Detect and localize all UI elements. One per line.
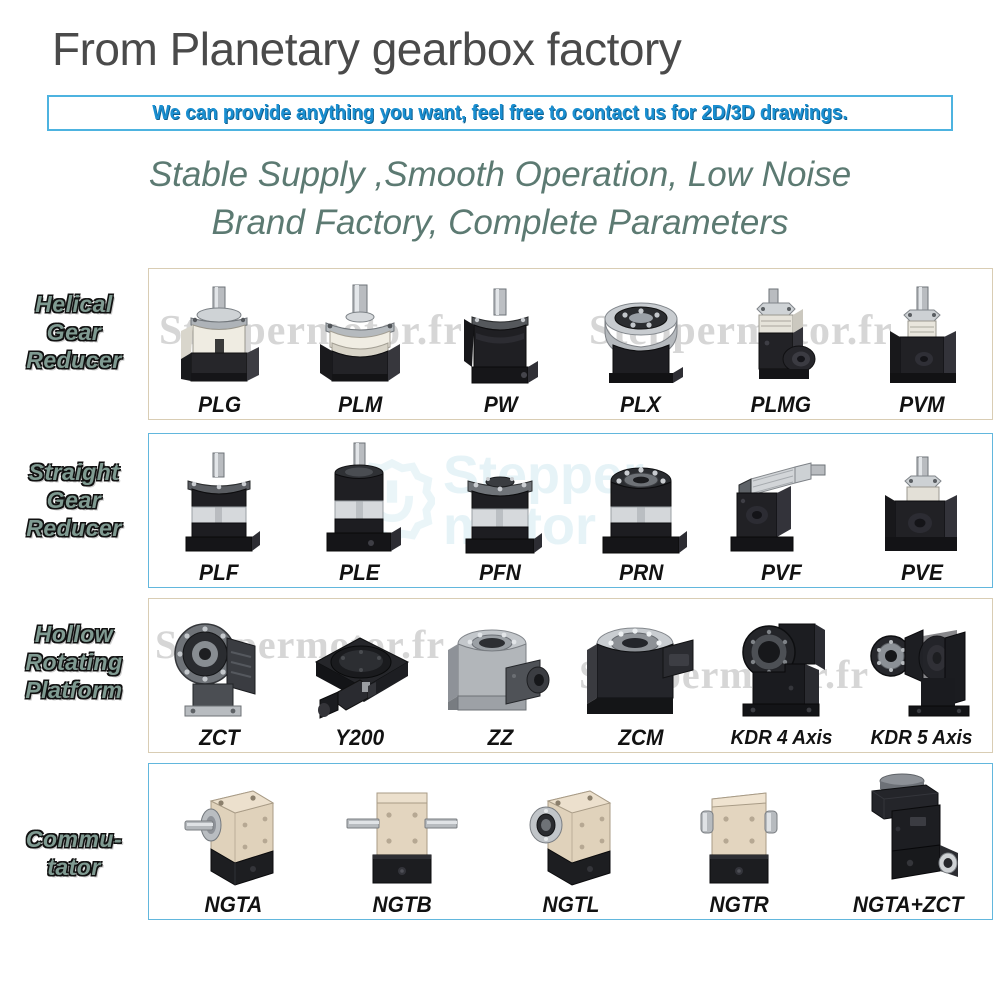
row-label-commutator: Commu- tator xyxy=(4,825,144,881)
product-cell-ngtl[interactable]: NGTL xyxy=(486,764,655,919)
product-box-commutator: NGTA xyxy=(148,763,993,920)
product-image-kdr-4-axis xyxy=(711,599,852,726)
product-caption: PVF xyxy=(761,561,802,585)
product-caption: PW xyxy=(483,393,517,417)
product-caption: PLMG xyxy=(751,393,811,417)
product-cell-pfn[interactable]: PFN xyxy=(430,434,571,587)
row-label-line: Rotating xyxy=(4,648,144,676)
product-image-ngta xyxy=(149,764,318,893)
product-image-prn xyxy=(571,434,712,561)
product-image-plm xyxy=(290,269,431,393)
product-caption: NGTL xyxy=(542,893,599,917)
product-cell-pve[interactable]: PVE xyxy=(852,434,993,587)
product-cell-zz[interactable]: ZZ xyxy=(430,599,571,752)
product-cell-plm[interactable]: PLM xyxy=(290,269,431,419)
product-cells: NGTA xyxy=(149,764,992,919)
row-label-line: Gear xyxy=(4,486,144,514)
product-cells: PLG xyxy=(149,269,992,419)
product-caption: PLF xyxy=(200,561,239,585)
product-cell-kdr-4-axis[interactable]: KDR 4 Axis xyxy=(711,599,852,752)
row-label-line: tator xyxy=(4,853,144,881)
product-image-kdr-5-axis xyxy=(852,599,993,726)
product-caption: ZCT xyxy=(199,726,240,750)
product-caption: PRN xyxy=(619,561,663,585)
product-cell-ngta[interactable]: NGTA xyxy=(149,764,318,919)
product-caption: NGTR xyxy=(709,893,768,917)
row-label-line: Platform xyxy=(4,676,144,704)
product-cell-zcm[interactable]: ZCM xyxy=(571,599,712,752)
product-cell-plg[interactable]: PLG xyxy=(149,269,290,419)
product-image-plf xyxy=(149,434,290,561)
product-caption: Y200 xyxy=(335,726,384,750)
row-label-line: Gear xyxy=(4,318,144,346)
row-label-hollow-rotating-platform: Hollow Rotating Platform xyxy=(4,620,144,704)
product-catalog-page: From Planetary gearbox factory We can pr… xyxy=(0,0,1000,1000)
product-caption: PVM xyxy=(899,393,944,417)
product-caption: PFN xyxy=(479,561,521,585)
subtitle-line-1: Stable Supply ,Smooth Operation, Low Noi… xyxy=(0,155,1000,195)
product-image-pvm xyxy=(852,269,993,393)
product-cell-plx[interactable]: PLX xyxy=(571,269,712,419)
product-image-zcm xyxy=(571,599,712,726)
product-caption: NGTA+ZCT xyxy=(852,893,962,917)
product-image-ple xyxy=(290,434,431,561)
product-cell-ngta-zct[interactable]: NGTA+ZCT xyxy=(823,764,992,919)
product-image-pvf xyxy=(711,434,852,561)
product-cell-ngtb[interactable]: NGTB xyxy=(318,764,487,919)
product-box-straight: Stepper motor xyxy=(148,433,993,588)
product-cell-zct[interactable]: ZCT xyxy=(149,599,290,752)
row-label-line: Reducer xyxy=(4,514,144,542)
product-image-zz xyxy=(430,599,571,726)
product-image-ngtl xyxy=(486,764,655,893)
product-caption: NGTA xyxy=(204,893,262,917)
product-cell-plf[interactable]: PLF xyxy=(149,434,290,587)
row-label-line: Reducer xyxy=(4,346,144,374)
row-label-line: Commu- xyxy=(4,825,144,853)
product-cell-pvm[interactable]: PVM xyxy=(852,269,993,419)
product-caption: PVE xyxy=(901,561,943,585)
product-image-pfn xyxy=(430,434,571,561)
product-image-pve xyxy=(852,434,993,561)
product-caption: NGTB xyxy=(372,893,431,917)
product-cell-pvf[interactable]: PVF xyxy=(711,434,852,587)
row-label-line: Hollow xyxy=(4,620,144,648)
product-image-plmg xyxy=(711,269,852,393)
product-caption: ZCM xyxy=(618,726,663,750)
product-cells: PLF xyxy=(149,434,992,587)
product-cell-prn[interactable]: PRN xyxy=(571,434,712,587)
product-caption: ZZ xyxy=(487,726,513,750)
product-image-pw xyxy=(430,269,571,393)
product-caption: PLG xyxy=(198,393,241,417)
product-cell-kdr-5-axis[interactable]: KDR 5 Axis xyxy=(852,599,993,752)
product-caption: KDR 5 Axis xyxy=(871,726,973,750)
product-image-ngta-zct xyxy=(823,764,992,893)
product-cell-plmg[interactable]: PLMG xyxy=(711,269,852,419)
product-image-zct xyxy=(149,599,290,726)
subtitle-line-2: Brand Factory, Complete Parameters xyxy=(0,203,1000,243)
row-label-straight-gear-reducer: Straight Gear Reducer xyxy=(4,458,144,542)
product-cells: ZCT xyxy=(149,599,992,752)
product-cell-ngtr[interactable]: NGTR xyxy=(655,764,824,919)
product-caption: PLX xyxy=(620,393,661,417)
contact-banner-text: We can provide anything you want, feel f… xyxy=(152,102,847,125)
product-caption: PLM xyxy=(338,393,382,417)
contact-banner: We can provide anything you want, feel f… xyxy=(47,95,953,131)
product-caption: KDR 4 Axis xyxy=(730,726,832,750)
product-cell-ple[interactable]: PLE xyxy=(290,434,431,587)
row-label-line: Helical xyxy=(4,290,144,318)
product-image-plx xyxy=(571,269,712,393)
page-title: From Planetary gearbox factory xyxy=(52,22,681,76)
product-image-plg xyxy=(149,269,290,393)
row-label-line: Straight xyxy=(4,458,144,486)
product-box-hollow: Steppermotor.fr Steppermotor.fr xyxy=(148,598,993,753)
product-image-ngtr xyxy=(655,764,824,893)
product-image-ngtb xyxy=(318,764,487,893)
product-image-y200 xyxy=(290,599,431,726)
product-cell-y200[interactable]: Y200 xyxy=(290,599,431,752)
product-cell-pw[interactable]: PW xyxy=(430,269,571,419)
row-label-helical-gear-reducer: Helical Gear Reducer xyxy=(4,290,144,374)
product-box-helical: Steppermotor.fr Steppermotor.fr xyxy=(148,268,993,420)
product-caption: PLE xyxy=(339,561,380,585)
